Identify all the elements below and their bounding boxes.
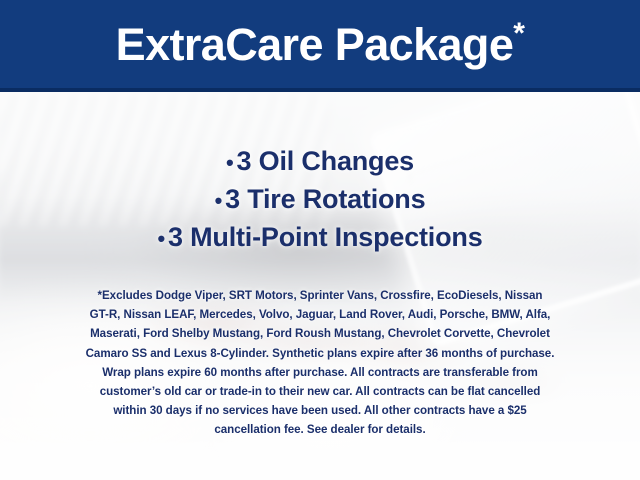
- benefit-label: 3 Tire Rotations: [225, 184, 425, 214]
- disclaimer-line: within 30 days if no services have been …: [24, 401, 616, 420]
- disclaimer-line: GT-R, Nissan LEAF, Mercedes, Volvo, Jagu…: [24, 305, 616, 324]
- page-title: ExtraCare Package*: [0, 17, 640, 73]
- benefit-label: 3 Oil Changes: [237, 146, 414, 176]
- benefits-list: •3 Oil Changes •3 Tire Rotations •3 Mult…: [0, 143, 640, 257]
- page-title-text: ExtraCare Package: [116, 19, 514, 70]
- benefit-label: 3 Multi-Point Inspections: [168, 222, 483, 252]
- list-item: •3 Multi-Point Inspections: [0, 219, 640, 257]
- page-title-asterisk: *: [513, 17, 524, 50]
- list-item: •3 Oil Changes: [0, 143, 640, 181]
- header-bottom-rule: [0, 88, 640, 92]
- list-item: •3 Tire Rotations: [0, 181, 640, 219]
- bullet-icon: •: [215, 188, 226, 213]
- disclaimer-line: *Excludes Dodge Viper, SRT Motors, Sprin…: [24, 286, 616, 305]
- disclaimer-line: cancellation fee. See dealer for details…: [24, 420, 616, 439]
- disclaimer-line: Camaro SS and Lexus 8-Cylinder. Syntheti…: [24, 344, 616, 363]
- disclaimer-text: *Excludes Dodge Viper, SRT Motors, Sprin…: [24, 286, 616, 440]
- disclaimer-line: customer’s old car or trade-in to their …: [24, 382, 616, 401]
- disclaimer-line: Maserati, Ford Shelby Mustang, Ford Rous…: [24, 324, 616, 343]
- bullet-icon: •: [157, 226, 168, 251]
- bullet-icon: •: [226, 150, 237, 175]
- disclaimer-line: Wrap plans expire 60 months after purcha…: [24, 363, 616, 382]
- extracare-package-promo-card: ExtraCare Package* •3 Oil Changes •3 Tir…: [0, 0, 640, 480]
